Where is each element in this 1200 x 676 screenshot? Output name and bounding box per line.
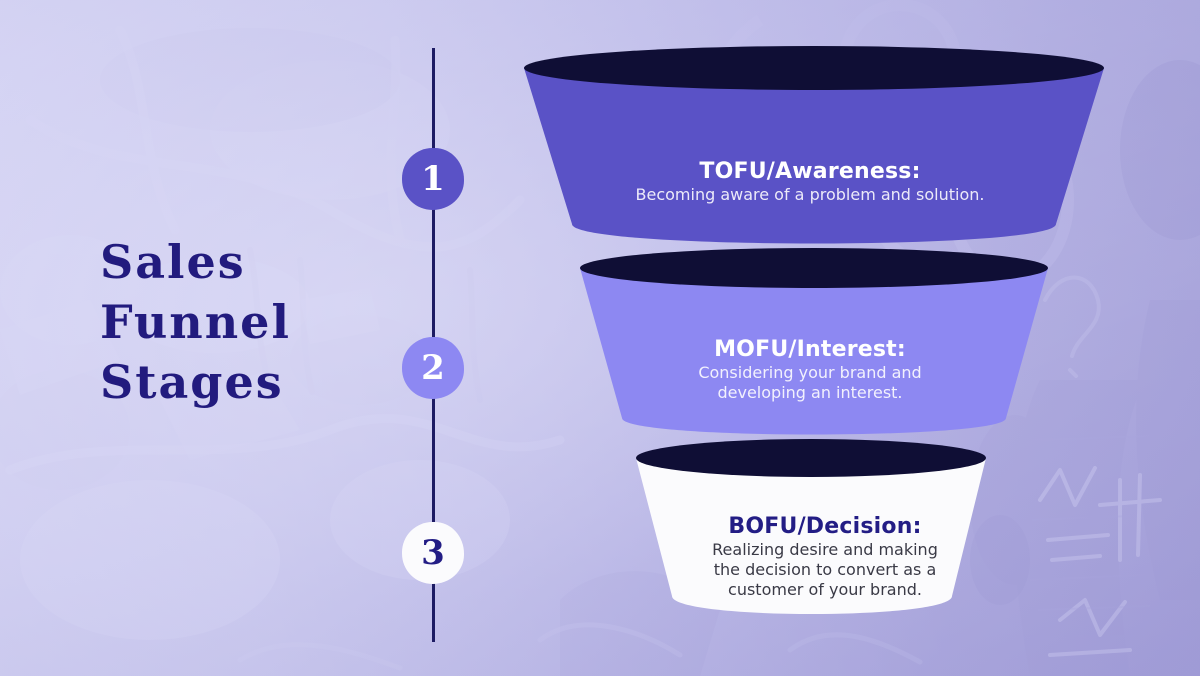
title-line-1: Sales	[100, 232, 400, 292]
page-title: Sales Funnel Stages	[100, 232, 400, 412]
step-number-1: 1	[421, 162, 445, 196]
step-number-2: 2	[421, 351, 445, 385]
step-marker-2[interactable]: 2	[402, 337, 464, 399]
funnel-stage-2	[580, 248, 1048, 435]
step-marker-1[interactable]: 1	[402, 148, 464, 210]
step-marker-3[interactable]: 3	[402, 522, 464, 584]
slide-canvas: Sales Funnel Stages 1 2 3	[0, 0, 1200, 676]
title-line-3: Stages	[100, 352, 400, 412]
funnel-stage-3	[636, 439, 986, 614]
title-line-2: Funnel	[100, 292, 400, 352]
sales-funnel-graphic	[500, 40, 1140, 640]
funnel-stage-1	[524, 46, 1104, 244]
step-number-3: 3	[421, 536, 445, 570]
